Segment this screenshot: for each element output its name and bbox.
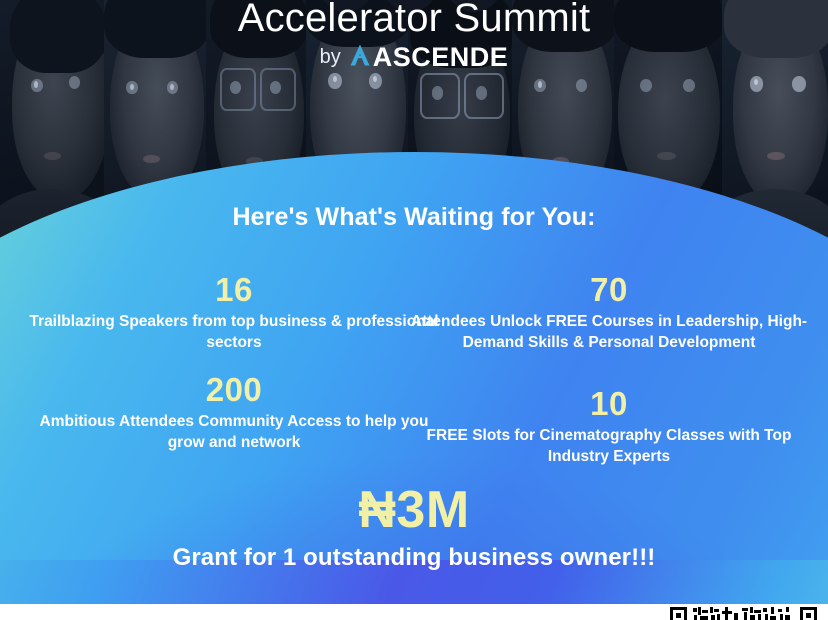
stat-slots: 10 FREE Slots for Cinematography Classes… — [404, 386, 814, 467]
qr-code-icon[interactable] — [670, 605, 822, 620]
stat-description: Attendees Unlock FREE Courses in Leaders… — [404, 311, 814, 354]
event-poster: Accelerator Summit byASCENDE Here's What… — [0, 0, 828, 620]
stat-number: 70 — [404, 272, 814, 308]
stat-number: 10 — [404, 386, 814, 422]
stat-number: 16 — [24, 272, 444, 308]
grant-block: ₦3M Grant for 1 outstanding business own… — [0, 483, 828, 572]
panel-content: Here's What's Waiting for You: 16 Trailb… — [0, 0, 828, 620]
stat-courses: 70 Attendees Unlock FREE Courses in Lead… — [404, 272, 814, 353]
grant-amount: ₦3M — [0, 483, 828, 538]
stat-description: Ambitious Attendees Community Access to … — [24, 411, 444, 454]
stat-number: 200 — [24, 372, 444, 408]
stat-description: Trailblazing Speakers from top business … — [24, 311, 444, 354]
stat-description: FREE Slots for Cinematography Classes wi… — [404, 425, 814, 468]
section-heading: Here's What's Waiting for You: — [0, 203, 828, 232]
stat-speakers: 16 Trailblazing Speakers from top busine… — [24, 272, 444, 353]
grant-caption: Grant for 1 outstanding business owner!!… — [0, 544, 828, 572]
stat-attendees: 200 Ambitious Attendees Community Access… — [24, 372, 444, 453]
